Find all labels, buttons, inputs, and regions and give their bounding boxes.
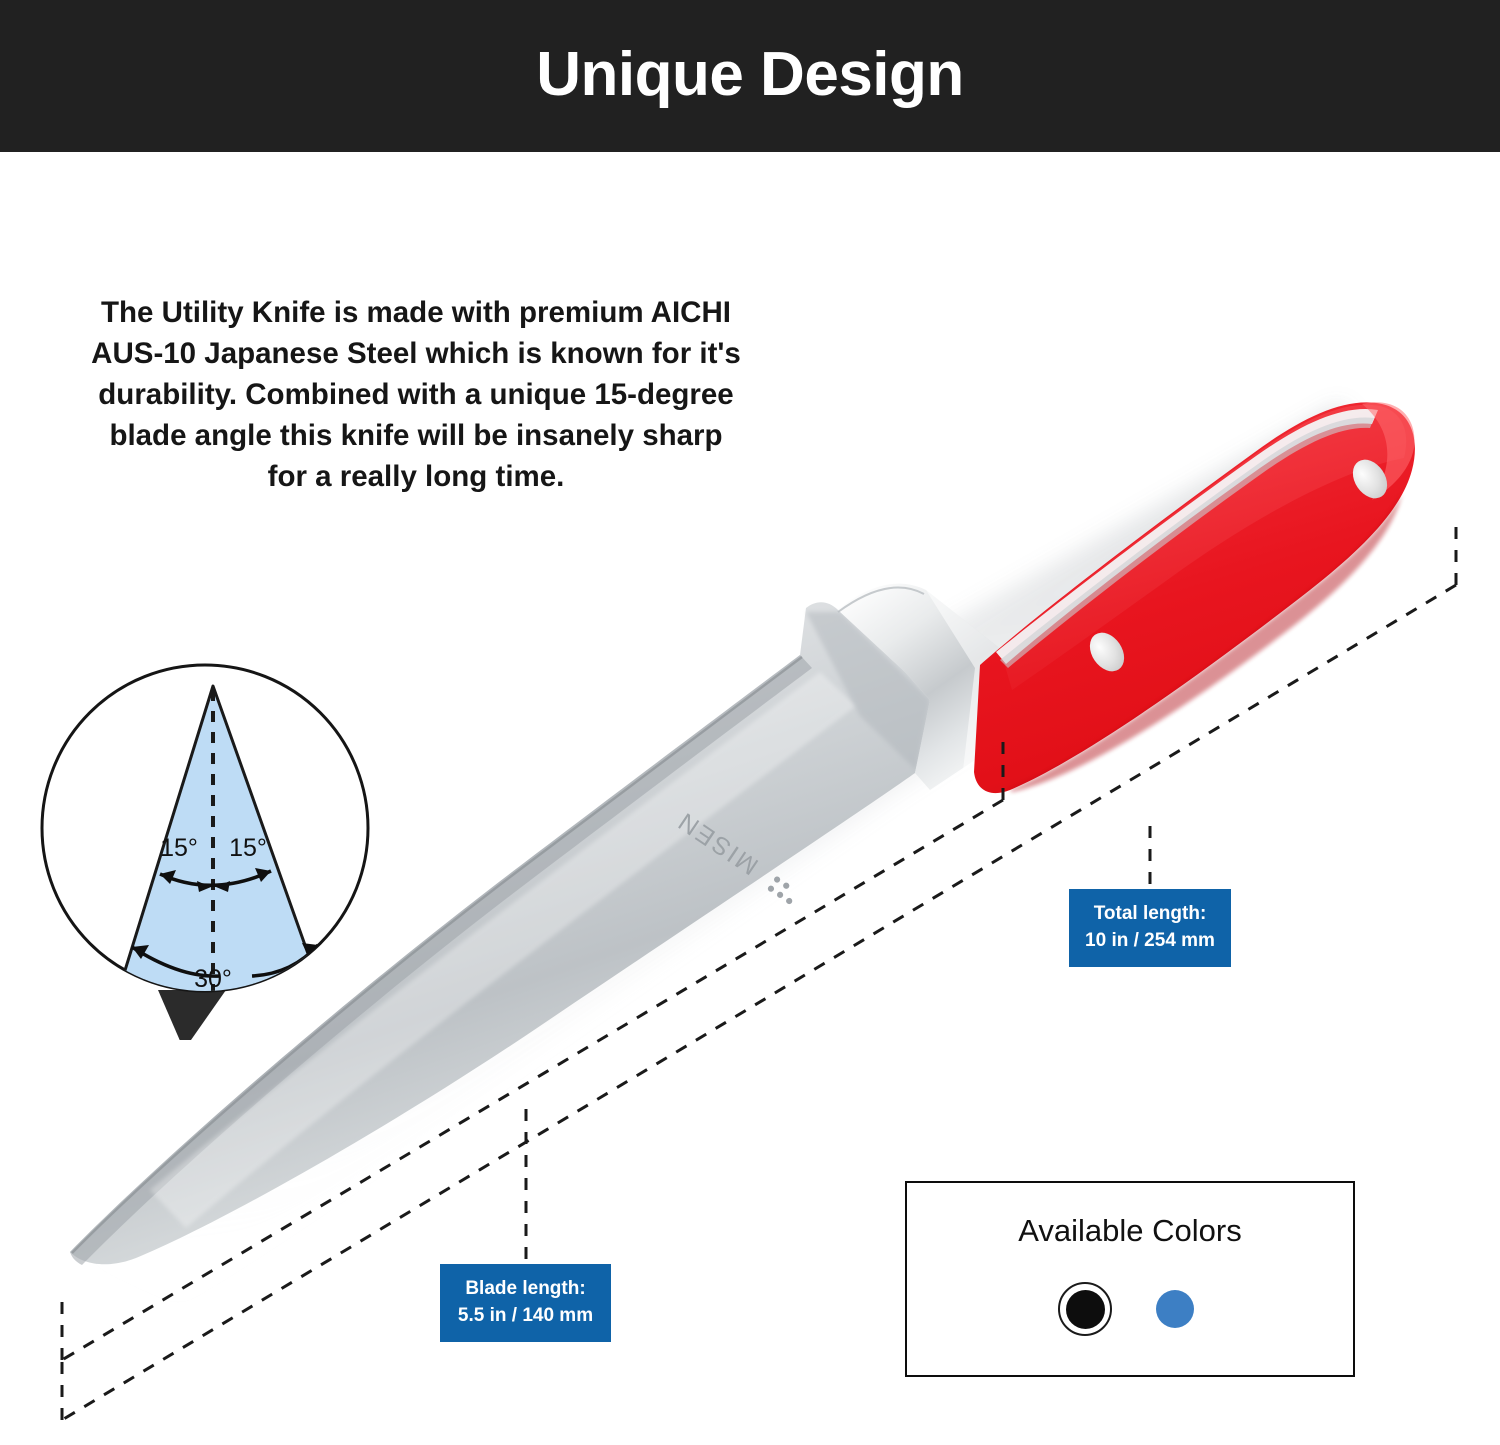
angle-label-total: 30° (194, 965, 232, 993)
handle-rivet-front (1083, 626, 1131, 678)
knife-handle (974, 402, 1415, 793)
blade-angle-detail: 15° 15° 30° (40, 660, 370, 1040)
angle-label-right: 15° (229, 834, 267, 862)
callout-total-length: Total length: 10 in / 254 mm (1069, 889, 1231, 967)
callout-blade-length: Blade length: 5.5 in / 140 mm (440, 1264, 611, 1342)
color-swatch-list (907, 1282, 1353, 1336)
product-description: The Utility Knife is made with premium A… (86, 292, 746, 497)
angle-pointer-triangle (158, 990, 226, 1040)
svg-text:MISEN: MISEN (672, 806, 764, 880)
color-swatch-blue[interactable] (1148, 1282, 1202, 1336)
color-swatch-black-dot (1066, 1290, 1105, 1329)
angle-label-left: 15° (160, 834, 198, 862)
callout-total-length-value: 10 in / 254 mm (1083, 927, 1217, 954)
callout-blade-length-label: Blade length: (454, 1275, 597, 1302)
brand-mark-misen: MISEN (672, 806, 804, 908)
callout-blade-length-value: 5.5 in / 140 mm (454, 1302, 597, 1329)
color-swatch-black[interactable] (1058, 1282, 1112, 1336)
handle-rivet-rear (1346, 453, 1394, 505)
infographic-page: Unique Design The Utility Knife is made … (0, 0, 1500, 1445)
color-swatch-blue-dot (1156, 1290, 1194, 1328)
available-colors-title: Available Colors (907, 1211, 1353, 1251)
knife-bolster (838, 584, 1012, 790)
callout-total-length-label: Total length: (1083, 900, 1217, 927)
page-title: Unique Design (0, 36, 1500, 114)
available-colors-panel: Available Colors (905, 1181, 1355, 1377)
